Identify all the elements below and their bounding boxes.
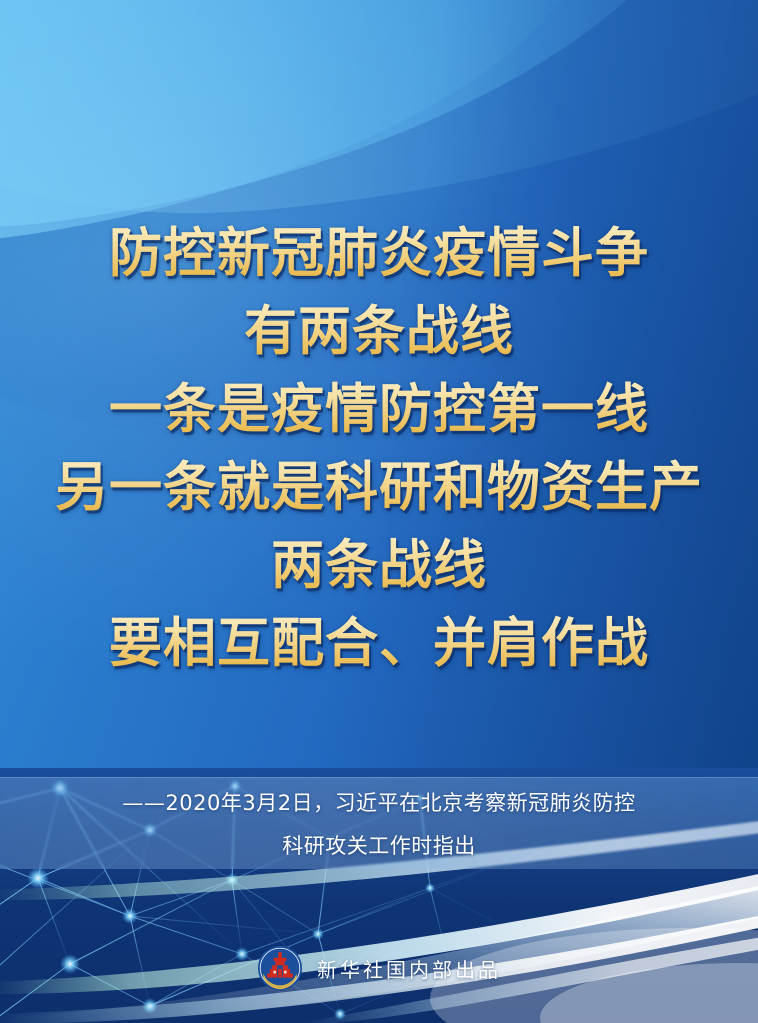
headline-line-5: 两条战线 [0,526,758,604]
headline-line-1: 防控新冠肺炎疫情斗争 [0,214,758,292]
xinhua-emblem-icon: XINHUA [257,945,303,991]
caption-line-1: ——2020年3月2日，习近平在北京考察新冠肺炎防控 [0,782,758,825]
background-wedge-far [0,0,758,241]
headline-line-2: 有两条战线 [0,292,758,370]
headline-block: 防控新冠肺炎疫情斗争 有两条战线 一条是疫情防控第一线 另一条就是科研和物资生产… [0,214,758,682]
poster-canvas: 防控新冠肺炎疫情斗争 有两条战线 一条是疫情防控第一线 另一条就是科研和物资生产… [0,0,758,1023]
headline-line-6: 要相互配合、并肩作战 [0,604,758,682]
background-wedge-primary [0,0,758,243]
footer-text: 新华社国内部出品 [317,954,501,983]
footer-credit: XINHUA 新华社国内部出品 [0,938,758,998]
headline-line-4: 另一条就是科研和物资生产 [0,448,758,526]
caption-line-2: 科研攻关工作时指出 [0,825,758,868]
headline-line-3: 一条是疫情防控第一线 [0,370,758,448]
caption-block: ——2020年3月2日，习近平在北京考察新冠肺炎防控 科研攻关工作时指出 [0,782,758,868]
svg-text:XINHUA: XINHUA [271,978,290,983]
